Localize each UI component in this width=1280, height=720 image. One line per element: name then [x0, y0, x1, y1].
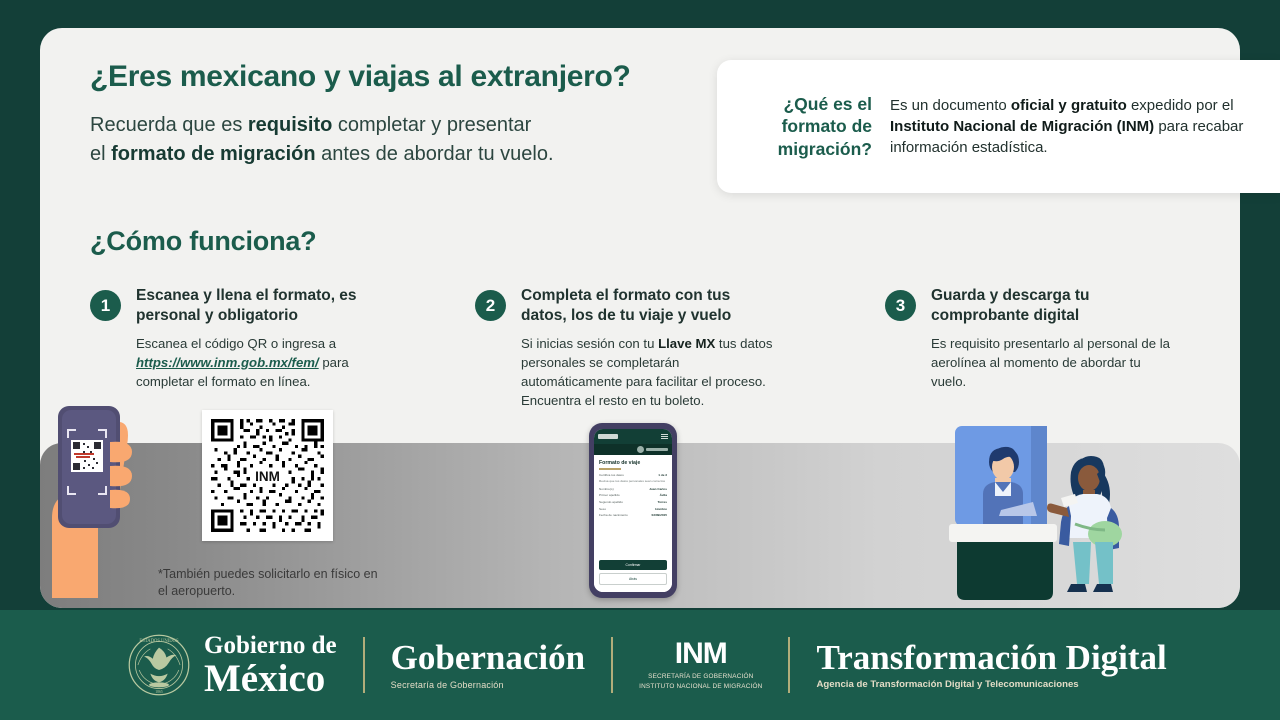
info-box-question-l3: migración? — [778, 139, 872, 159]
step-1-number-badge: 1 — [90, 290, 121, 321]
progress-label: Certifica tus datos — [599, 473, 624, 477]
gobernacion-subtitle: Secretaría de Gobernación — [391, 681, 585, 690]
gobierno-de-mexico-logo: ESTADOS UNIDOS 1865 Gobierno de México — [128, 633, 337, 698]
mexican-coat-of-arms-icon: ESTADOS UNIDOS 1865 — [128, 634, 190, 696]
step-3-illustration — [945, 420, 1145, 608]
step-3: 3 Guarda y descarga tu comprobante digit… — [885, 286, 1175, 391]
field-label: Nombre(s) — [599, 487, 614, 491]
hero-subtitle-l1-bold: requisito — [248, 114, 332, 136]
hero-subtitle-l2-post: antes de abordar tu vuelo. — [316, 143, 554, 165]
inm-subtitle-line-2: INSTITUTO NACIONAL DE MIGRACIÓN — [639, 683, 762, 690]
gobernacion-logo: Gobernación Secretaría de Gobernación — [391, 640, 585, 690]
inm-fem-link[interactable]: https://www.inm.gob.mx/fem/ — [136, 355, 319, 370]
field-label: Fecha de nacimiento — [599, 513, 628, 517]
field-row: Fecha de nacimiento 03/09/2015 — [599, 513, 667, 517]
step-1-title: Escanea y llena el formato, es personal … — [136, 286, 410, 326]
progress-row: Certifica tus datos 1 de 3 — [599, 473, 667, 477]
footer-divider-3 — [788, 637, 790, 693]
step-2: 2 Completa el formato con tus datos, los… — [475, 286, 775, 410]
step-1-illustration: INM *También puedes solicitarlo en físic… — [40, 398, 385, 608]
inm-subtitle: SECRETARÍA DE GOBERNACIÓN INSTITUTO NACI… — [639, 672, 762, 691]
qr-footnote: *También puedes solicitarlo en físico en… — [158, 566, 388, 601]
airline-counter-illustration — [945, 420, 1145, 608]
hero-subtitle-l1-pre: Recuerda que es — [90, 114, 248, 136]
hero-subtitle: Recuerda que es requisito completar y pr… — [90, 111, 750, 169]
info-answer-bold-2: Instituto Nacional de Migración (INM) — [890, 118, 1154, 135]
form-actions: Confirmar Atrás — [594, 557, 672, 592]
field-value: Hombre — [655, 507, 667, 511]
user-bar — [594, 444, 672, 455]
hero-subtitle-l1-post: completar y presentar — [332, 114, 531, 136]
poster-stage: ¿Eres mexicano y viajas al extranjero? R… — [0, 0, 1280, 720]
transformacion-digital-subtitle: Agencia de Transformación Digital y Tele… — [816, 679, 1166, 690]
field-label: Segundo apellido — [599, 500, 623, 504]
field-label: Primer apellido — [599, 493, 620, 497]
inm-subtitle-line-1: SECRETARÍA DE GOBERNACIÓN — [648, 673, 753, 680]
app-logo-icon — [598, 434, 618, 439]
qr-code-graphic: INM — [208, 416, 327, 535]
step-3-title: Guarda y descarga tu comprobante digital — [931, 286, 1175, 326]
field-value: Juan Carlos — [649, 487, 667, 491]
phone-screen: Formato de viaje Certifica tus datos 1 d… — [594, 429, 672, 592]
step-1-text: Escanea el código QR o ingresa a https:/… — [136, 334, 410, 391]
info-box-question-l2: formato de — [782, 116, 872, 136]
field-row: Primer apellido Ávila — [599, 493, 667, 497]
form-title: Formato de viaje — [599, 460, 667, 466]
app-header — [594, 429, 672, 444]
field-value: Ávila — [660, 493, 667, 497]
info-answer-pre: Es un documento — [890, 97, 1011, 114]
step-2-text-bold: Llave MX — [658, 336, 715, 351]
gobierno-de-mexico-wordmark: Gobierno de México — [204, 633, 337, 698]
field-label: Sexo — [599, 507, 606, 511]
hero-subtitle-l2-bold: formato de migración — [111, 143, 315, 165]
step-3-text: Es requisito presentarlo al personal de … — [931, 334, 1175, 391]
info-box-answer: Es un documento oficial y gratuito exped… — [890, 95, 1280, 158]
info-box-question-l1: ¿Qué es el — [783, 94, 872, 114]
form-helper-text: Revisa que tus datos personales sean cor… — [599, 479, 667, 484]
footer-divider-2 — [611, 637, 613, 693]
avatar — [637, 446, 644, 453]
step-1-text-pre: Escanea el código QR o ingresa a — [136, 336, 336, 351]
back-button[interactable]: Atrás — [599, 573, 667, 585]
confirm-button[interactable]: Confirmar — [599, 560, 667, 570]
transformacion-digital-title: Transformación Digital — [816, 640, 1166, 675]
step-2-phone-mockup: Formato de viaje Certifica tus datos 1 d… — [589, 423, 677, 598]
progress-value: 1 de 3 — [658, 473, 667, 477]
hero-block: ¿Eres mexicano y viajas al extranjero? R… — [90, 60, 750, 169]
trip-form: Formato de viaje Certifica tus datos 1 d… — [594, 455, 672, 557]
title-underline — [599, 468, 621, 470]
info-box-question: ¿Qué es el formato de migración? — [744, 93, 872, 160]
field-row: Segundo apellido Torres — [599, 500, 667, 504]
user-name-label — [646, 448, 668, 451]
footer-bar: ESTADOS UNIDOS 1865 Gobierno de México G… — [0, 610, 1280, 720]
hamburger-menu-icon[interactable] — [661, 434, 668, 439]
page-title: ¿Eres mexicano y viajas al extranjero? — [90, 60, 750, 93]
phone-body: Formato de viaje Certifica tus datos 1 d… — [589, 423, 677, 598]
inm-wordmark: INM — [639, 639, 762, 669]
how-it-works-heading: ¿Cómo funciona? — [90, 226, 316, 257]
transformacion-digital-logo: Transformación Digital Agencia de Transf… — [816, 640, 1166, 690]
inm-logo: INM SECRETARÍA DE GOBERNACIÓN INSTITUTO … — [639, 639, 762, 691]
svg-text:1865: 1865 — [155, 690, 163, 694]
qr-code[interactable]: INM — [202, 410, 333, 541]
gobierno-line-1: Gobierno de — [204, 633, 337, 658]
what-is-info-box: ¿Qué es el formato de migración? Es un d… — [717, 60, 1280, 193]
gobierno-line-2: México — [204, 659, 337, 698]
field-row: Nombre(s) Juan Carlos — [599, 487, 667, 491]
step-2-number-badge: 2 — [475, 290, 506, 321]
qr-center-label: INM — [255, 469, 280, 484]
info-answer-bold-1: oficial y gratuito — [1011, 97, 1127, 114]
gobernacion-title: Gobernación — [391, 640, 585, 677]
footer-divider-1 — [363, 637, 365, 693]
step-2-title: Completa el formato con tus datos, los d… — [521, 286, 775, 326]
step-1: 1 Escanea y llena el formato, es persona… — [90, 286, 410, 391]
field-row: Sexo Hombre — [599, 507, 667, 511]
hero-subtitle-l2-pre: el — [90, 143, 111, 165]
field-value: 03/09/2015 — [652, 513, 667, 517]
field-value: Torres — [658, 500, 667, 504]
step-3-number-badge: 3 — [885, 290, 916, 321]
step-2-text-pre: Si inicias sesión con tu — [521, 336, 658, 351]
step-2-text: Si inicias sesión con tu Llave MX tus da… — [521, 334, 775, 411]
svg-text:ESTADOS UNIDOS: ESTADOS UNIDOS — [139, 639, 179, 644]
info-answer-mid: expedido por el — [1127, 97, 1234, 114]
